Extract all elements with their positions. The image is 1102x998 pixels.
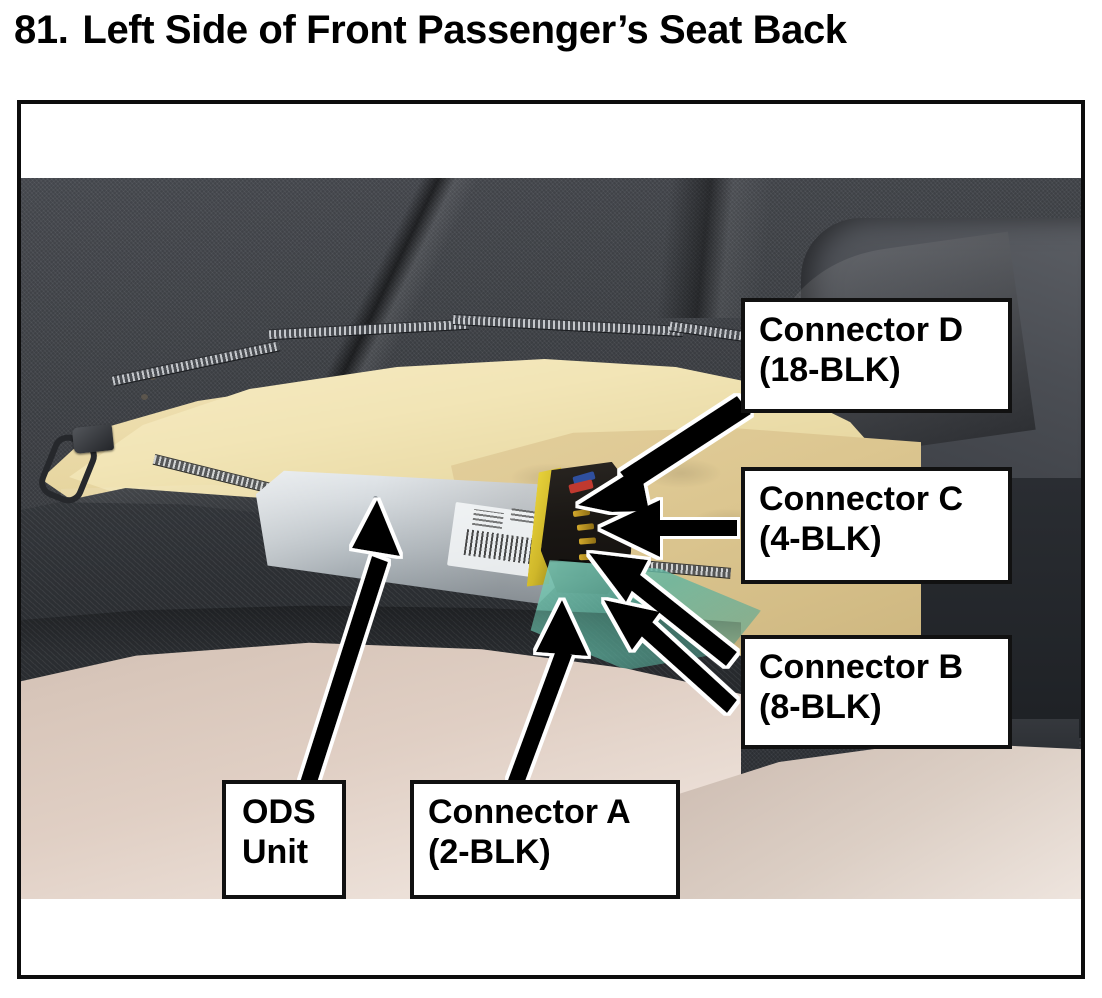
callout-connector-d: Connector D (18-BLK) [741,298,1012,413]
callout-connector-a: Connector A (2-BLK) [410,780,680,899]
connector-pin-gold [579,554,596,561]
ods-unit-screw [373,496,378,501]
callout-connector-c: Connector C (4-BLK) [741,467,1012,584]
callout-ods-unit: ODS Unit [222,780,346,899]
foam-speck [141,394,148,400]
page-title: 81.Left Side of Front Passenger’s Seat B… [14,2,1084,62]
callout-connector-b: Connector B (8-BLK) [741,635,1012,749]
page-root: 81.Left Side of Front Passenger’s Seat B… [0,0,1102,998]
page-title-number: 81. [14,8,68,52]
connector-pin-gold [579,537,596,544]
zipper-pull-slider [72,424,114,454]
page-title-text: Left Side of Front Passenger’s Seat Back [82,8,846,52]
